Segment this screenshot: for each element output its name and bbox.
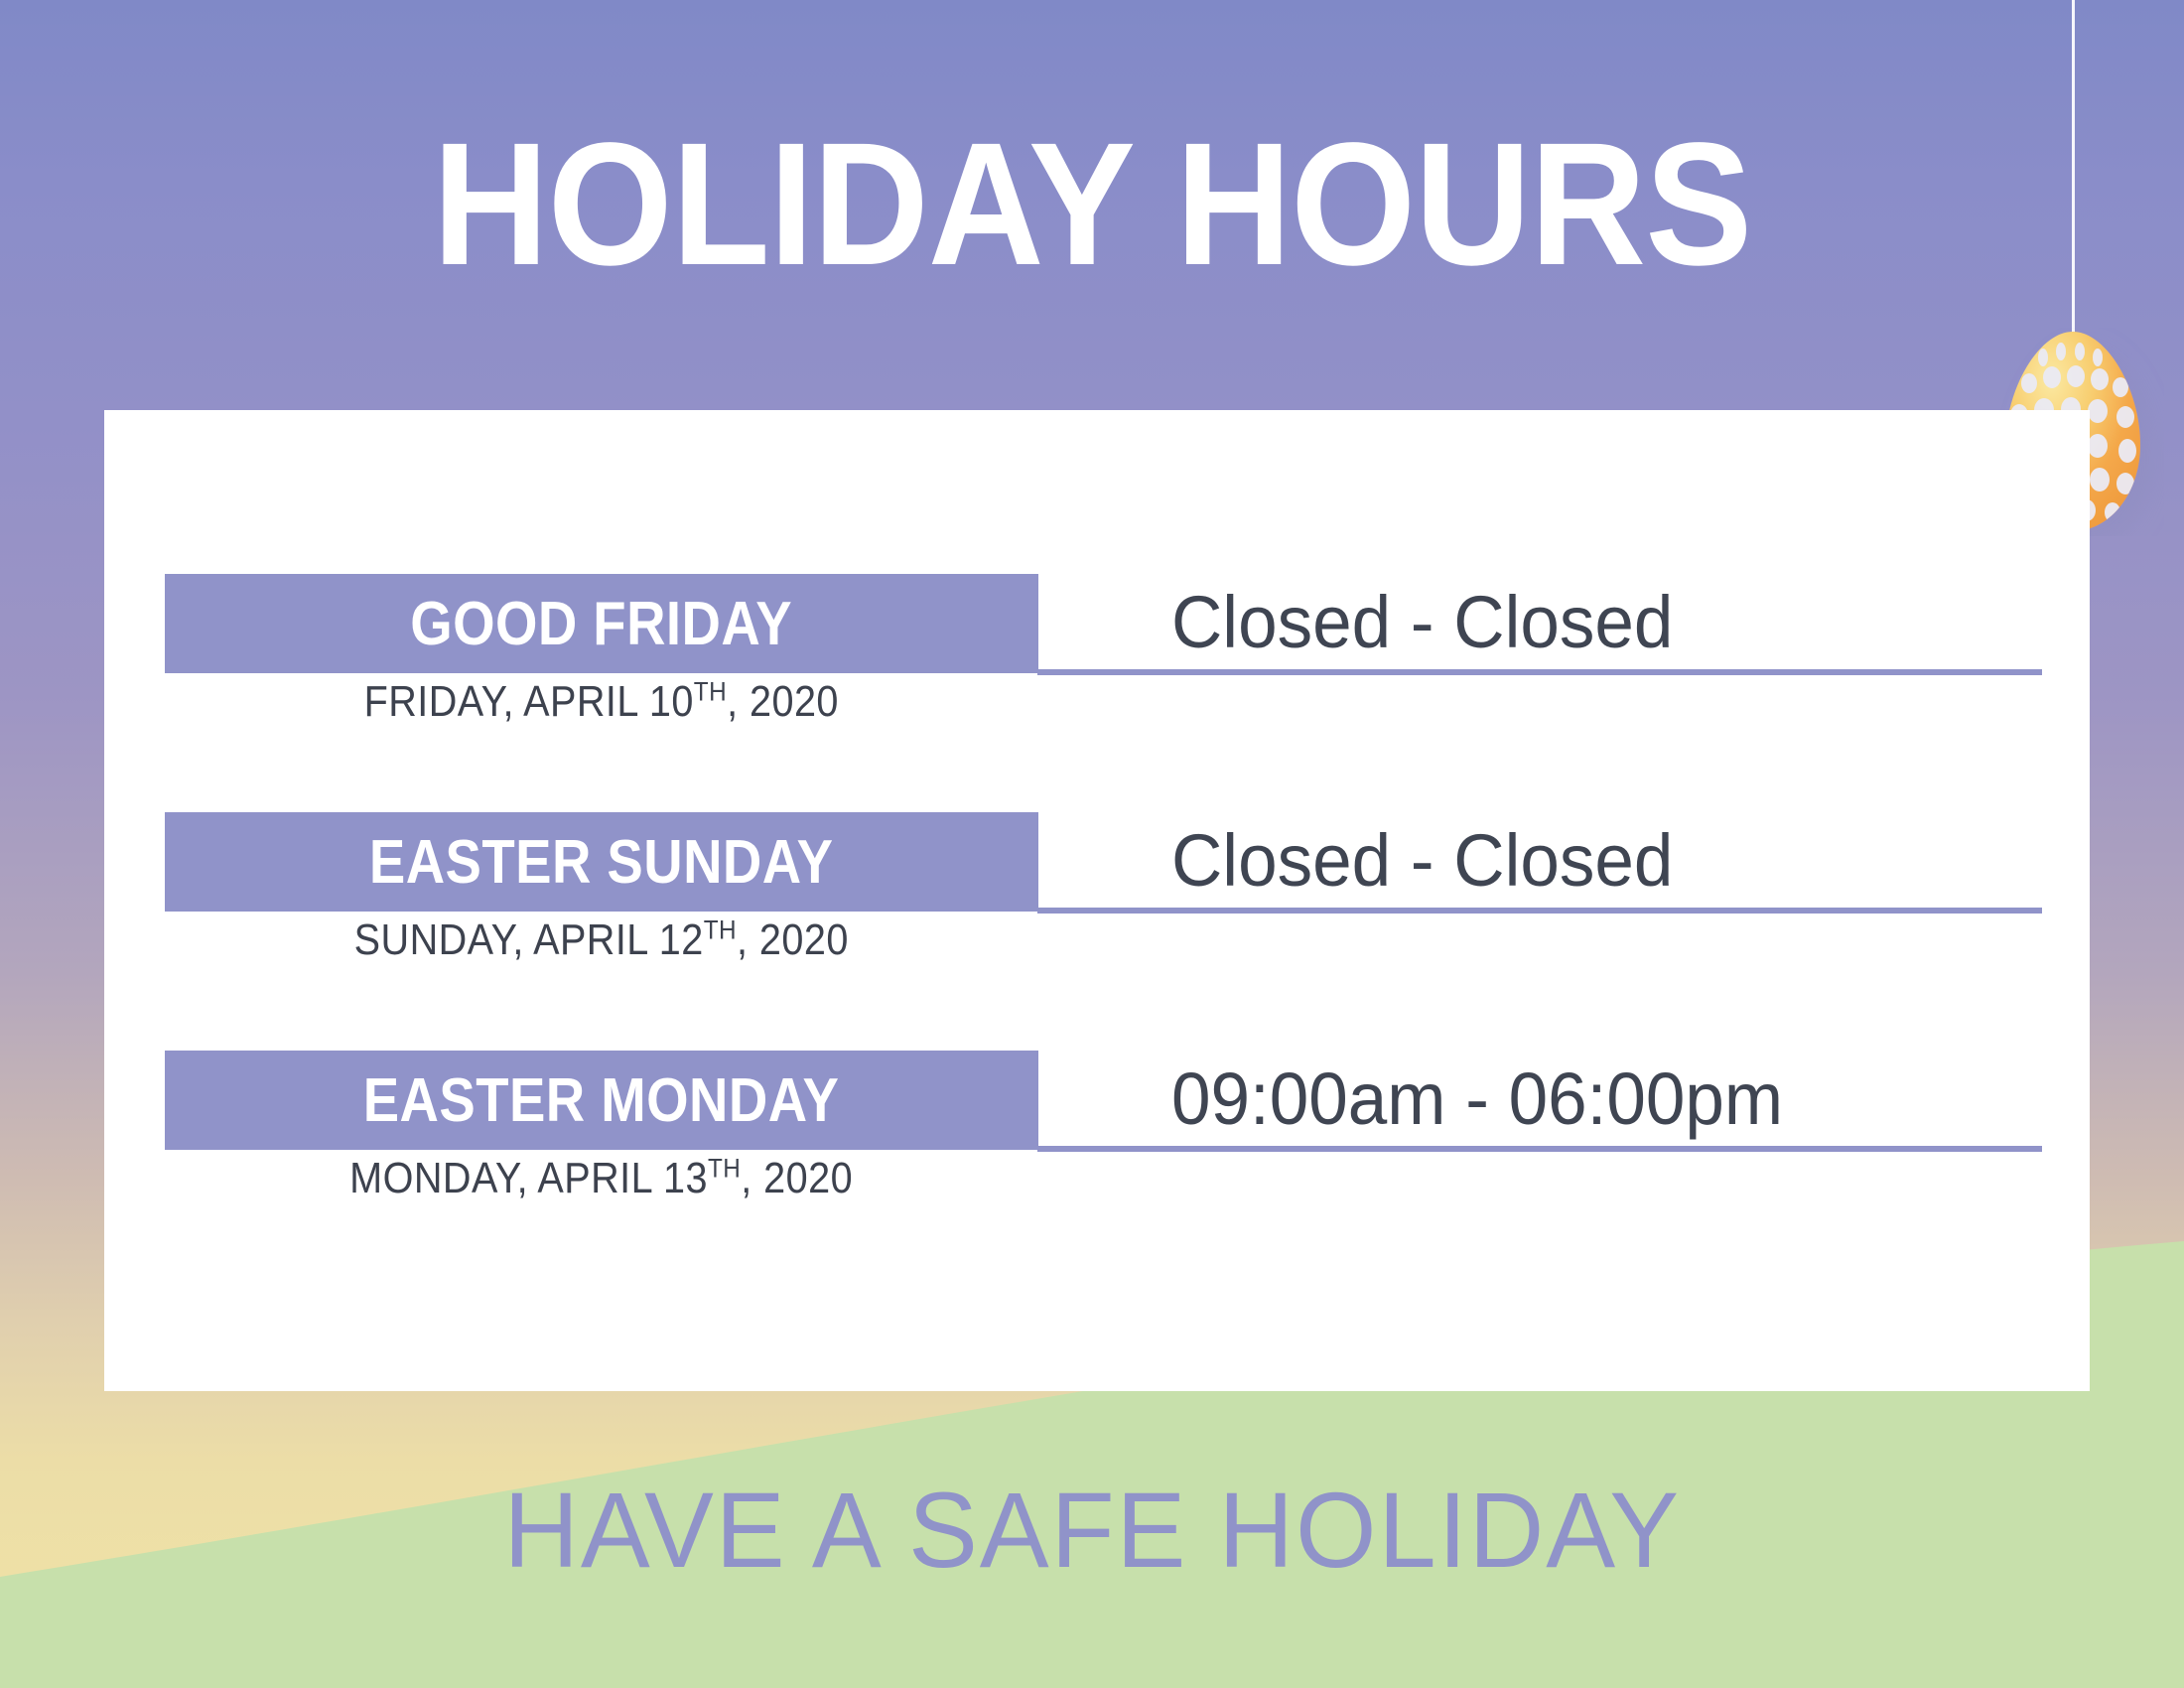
hours-value-cell: Closed - Closed (1171, 810, 2144, 910)
date-prefix: MONDAY, APRIL 13 (350, 1154, 709, 1202)
date-prefix: SUNDAY, APRIL 12 (354, 915, 704, 964)
table-row: EASTER MONDAY MONDAY, APRIL 13TH, 2020 0… (104, 1051, 2090, 1289)
footer-message: HAVE A SAFE HOLIDAY (0, 1468, 2184, 1592)
hours-value: Closed - Closed (1171, 580, 1673, 664)
date-suffix: , 2020 (727, 677, 839, 726)
hours-value-cell: 09:00am - 06:00pm (1171, 1049, 2144, 1148)
holiday-name: EASTER SUNDAY (369, 827, 834, 898)
holiday-label-easter-monday: EASTER MONDAY (165, 1051, 1038, 1150)
holiday-date: MONDAY, APRIL 13TH, 2020 (165, 1154, 1038, 1203)
schedule-card: GOOD FRIDAY FRIDAY, APRIL 10TH, 2020 Clo… (104, 410, 2090, 1391)
date-ordinal: TH (694, 676, 727, 706)
egg-string-icon (2072, 0, 2075, 338)
table-row: EASTER SUNDAY SUNDAY, APRIL 12TH, 2020 C… (104, 812, 2090, 1051)
date-ordinal: TH (708, 1153, 741, 1183)
holiday-date: FRIDAY, APRIL 10TH, 2020 (165, 677, 1038, 727)
date-suffix: , 2020 (737, 915, 849, 964)
footer-text: HAVE A SAFE HOLIDAY (503, 1468, 1681, 1592)
holiday-date: SUNDAY, APRIL 12TH, 2020 (165, 915, 1038, 965)
holiday-label-good-friday: GOOD FRIDAY (165, 574, 1038, 673)
table-row: GOOD FRIDAY FRIDAY, APRIL 10TH, 2020 Clo… (104, 574, 2090, 812)
date-prefix: FRIDAY, APRIL 10 (364, 677, 694, 726)
page-title: HOLIDAY HOURS (87, 117, 2097, 292)
holiday-label-easter-sunday: EASTER SUNDAY (165, 812, 1038, 912)
date-ordinal: TH (704, 914, 737, 944)
holiday-name: GOOD FRIDAY (411, 589, 793, 659)
hours-value-cell: Closed - Closed (1171, 572, 2144, 671)
hours-value: Closed - Closed (1171, 818, 1673, 903)
hours-value: 09:00am - 06:00pm (1171, 1056, 1783, 1141)
holiday-hours-poster: HOLIDAY HOURS (0, 0, 2184, 1688)
holiday-name: EASTER MONDAY (363, 1065, 840, 1136)
date-suffix: , 2020 (742, 1154, 854, 1202)
